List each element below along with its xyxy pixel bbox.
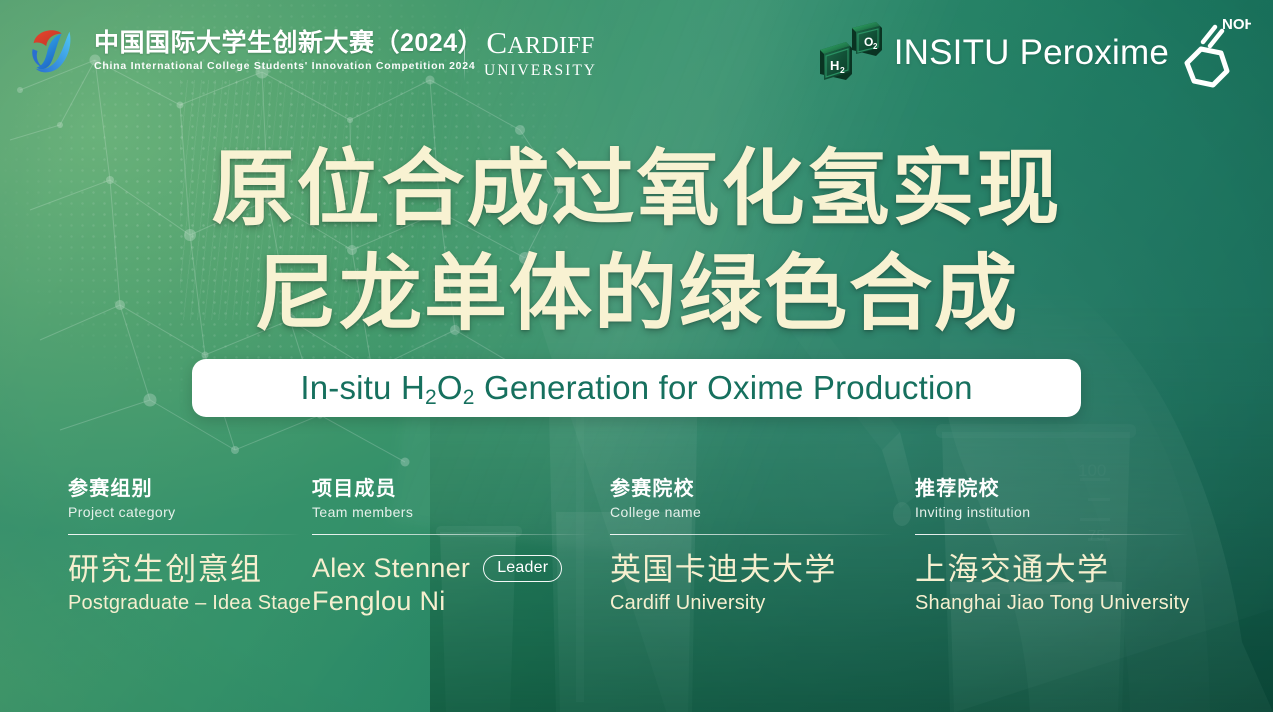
subtitle-part-3: Generation for Oxime Production bbox=[475, 369, 973, 406]
info-column-project-category: 参赛组别 Project category 研究生创意组 Postgraduat… bbox=[0, 478, 302, 648]
svg-text:2: 2 bbox=[840, 65, 845, 75]
h2-o2-tiles-icon: O 2 H 2 bbox=[818, 18, 884, 88]
subtitle-bar: In-situ H2O2 Generation for Oxime Produc… bbox=[192, 359, 1081, 417]
svg-text:O: O bbox=[864, 35, 873, 49]
cardiff-rest: ARDIFF bbox=[507, 33, 594, 59]
presentation-slide: 100 75 bbox=[0, 0, 1273, 712]
main-title: 原位合成过氧化氢实现 尼龙单体的绿色合成 bbox=[0, 137, 1273, 346]
cardiff-subtitle: UNIVERSITY bbox=[484, 63, 597, 79]
members-label-en: Team members bbox=[312, 505, 604, 520]
info-column-team-members: 项目成员 Team members Alex Stenner Leader Fe… bbox=[302, 478, 604, 648]
competition-name-block: 中国国际大学生创新大赛（2024） China International Co… bbox=[94, 29, 483, 73]
cyclohexanone-oxime-icon: NOH bbox=[1177, 15, 1251, 91]
category-label-cn: 参赛组别 bbox=[68, 478, 302, 500]
institution-label-cn: 推荐院校 bbox=[915, 478, 1273, 500]
subtitle-text: In-situ H2O2 Generation for Oxime Produc… bbox=[300, 369, 972, 407]
title-line-1: 原位合成过氧化氢实现 bbox=[0, 137, 1273, 242]
column-divider bbox=[68, 534, 300, 535]
project-brand-group: O 2 H 2 INSITU Peroxime NOH bbox=[818, 16, 1251, 90]
title-line-2: 尼龙单体的绿色合成 bbox=[0, 242, 1273, 347]
subtitle-part-2: O bbox=[437, 369, 463, 406]
subtitle-sub-1: 2 bbox=[425, 386, 437, 409]
college-value-en: Cardiff University bbox=[610, 592, 907, 615]
svg-text:NOH: NOH bbox=[1222, 16, 1251, 33]
subtitle-part-1: In-situ H bbox=[300, 369, 425, 406]
college-label-en: College name bbox=[610, 505, 907, 520]
leader-badge: Leader bbox=[483, 555, 562, 582]
team-member-row: Alex Stenner Leader bbox=[312, 552, 604, 585]
competition-logo-group: 中国国际大学生创新大赛（2024） China International Co… bbox=[22, 20, 483, 82]
subtitle-sub-2: 2 bbox=[463, 386, 475, 409]
competition-name-en: China International College Students' In… bbox=[94, 60, 483, 73]
institution-value-en: Shanghai Jiao Tong University bbox=[915, 592, 1273, 615]
category-value-cn: 研究生创意组 bbox=[68, 552, 302, 588]
svg-text:H: H bbox=[830, 58, 839, 73]
category-label-en: Project category bbox=[68, 505, 302, 520]
column-divider bbox=[610, 534, 893, 535]
column-divider bbox=[915, 534, 1188, 535]
header-divider bbox=[464, 26, 465, 81]
member-name-second: Fenglou Ni bbox=[312, 585, 604, 618]
column-divider bbox=[312, 534, 590, 535]
college-value-cn: 英国卡迪夫大学 bbox=[610, 552, 907, 588]
info-column-college-name: 参赛院校 College name 英国卡迪夫大学 Cardiff Univer… bbox=[604, 478, 907, 648]
info-column-inviting-institution: 推荐院校 Inviting institution 上海交通大学 Shangha… bbox=[907, 478, 1273, 648]
competition-name-cn: 中国国际大学生创新大赛（2024） bbox=[94, 29, 483, 57]
category-value-en: Postgraduate – Idea Stage bbox=[68, 592, 302, 615]
svg-text:2: 2 bbox=[873, 42, 878, 51]
slide-header: 中国国际大学生创新大赛（2024） China International Co… bbox=[0, 0, 1273, 108]
member-name-leader: Alex Stenner bbox=[312, 552, 470, 585]
members-label-cn: 项目成员 bbox=[312, 478, 604, 500]
info-columns: 参赛组别 Project category 研究生创意组 Postgraduat… bbox=[0, 478, 1273, 648]
project-brand-name: INSITU Peroxime bbox=[894, 33, 1169, 73]
cardiff-university-logo: CARDIFF UNIVERSITY bbox=[484, 27, 597, 79]
institution-value-cn: 上海交通大学 bbox=[915, 552, 1273, 588]
institution-label-en: Inviting institution bbox=[915, 505, 1273, 520]
swirl-emblem-icon bbox=[22, 20, 84, 82]
cardiff-initial: C bbox=[486, 25, 507, 60]
cardiff-wordmark: CARDIFF bbox=[484, 27, 597, 58]
college-label-cn: 参赛院校 bbox=[610, 478, 907, 500]
